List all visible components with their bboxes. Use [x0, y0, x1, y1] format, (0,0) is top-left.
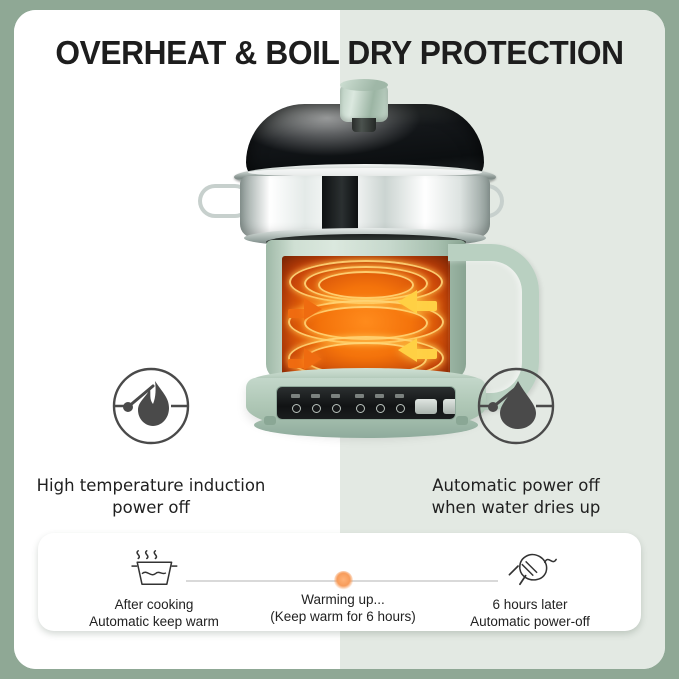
control-label-mark	[375, 394, 384, 398]
feature-right-line1: Automatic power off	[432, 476, 600, 495]
control-label-mark	[311, 394, 320, 398]
flow-arrow-tail	[415, 301, 437, 311]
flow-arrow-tail	[415, 349, 437, 359]
timeline-step1-line2: Automatic keep warm	[89, 614, 219, 629]
warming-spacer	[243, 547, 443, 589]
unplugged-plug-icon	[497, 547, 564, 589]
feature-high-temperature: High temperature induction power off	[26, 366, 276, 520]
feature-right-text: Automatic power off when water dries up	[391, 475, 641, 520]
lid-knob	[340, 84, 388, 122]
control-indicator[interactable]	[312, 404, 321, 413]
gauge-droplet-icon	[476, 366, 556, 446]
flow-arrow-orange	[304, 298, 322, 320]
timeline-step3-text: 6 hours later Automatic power-off	[430, 596, 630, 631]
infographic-root: OVERHEAT & BOIL DRY PROTECTION	[0, 0, 679, 679]
timeline-step1-line1: After cooking	[115, 597, 194, 612]
timeline-step3-line2: Automatic power-off	[470, 614, 590, 629]
keep-warm-timeline: After cooking Automatic keep warm Warmin…	[38, 533, 641, 631]
page-title: OVERHEAT & BOIL DRY PROTECTION	[27, 34, 652, 72]
control-indicator[interactable]	[292, 404, 301, 413]
feature-left-line1: High temperature induction	[37, 476, 266, 495]
timeline-step2-text: Warming up... (Keep warm for 6 hours)	[243, 591, 443, 626]
timeline-step3-line1: 6 hours later	[492, 597, 567, 612]
timeline-step2-line1: Warming up...	[301, 592, 385, 607]
timeline-step2-line2: (Keep warm for 6 hours)	[270, 609, 416, 624]
flow-arrow-yellow	[398, 338, 417, 362]
control-label-mark	[331, 394, 340, 398]
timeline-step1-text: After cooking Automatic keep warm	[54, 596, 254, 631]
flow-arrow-yellow	[398, 290, 417, 314]
timeline-step-power-off: 6 hours later Automatic power-off	[430, 547, 630, 631]
content-card: OVERHEAT & BOIL DRY PROTECTION	[14, 10, 665, 669]
timeline-step-after-cooking: After cooking Automatic keep warm	[54, 547, 254, 631]
control-label-mark	[355, 394, 364, 398]
heat-cutaway-window	[282, 256, 450, 376]
feature-right-line2: when water dries up	[432, 498, 601, 517]
flow-arrow-orange	[304, 348, 322, 370]
timeline-step-warming: Warming up... (Keep warm for 6 hours)	[243, 547, 443, 626]
feature-left-text: High temperature induction power off	[26, 475, 276, 520]
control-indicator[interactable]	[356, 404, 365, 413]
feature-left-line2: power off	[112, 498, 190, 517]
lid-knob-stem	[352, 118, 376, 132]
feature-dry-boil: Automatic power off when water dries up	[391, 366, 641, 520]
control-indicator[interactable]	[376, 404, 385, 413]
control-indicator[interactable]	[332, 404, 341, 413]
control-label-mark	[291, 394, 300, 398]
steaming-pot-icon	[121, 547, 188, 589]
gauge-flame-icon	[111, 366, 191, 446]
